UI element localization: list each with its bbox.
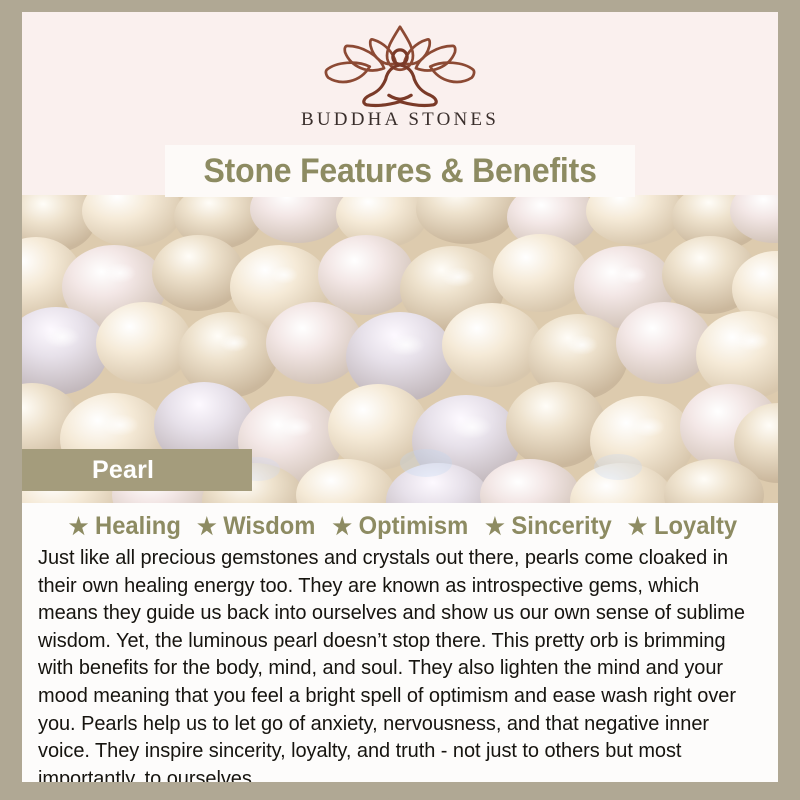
brand-name: BUDDHA STONES [22, 110, 778, 129]
page-title: Stone Features & Benefits [203, 152, 596, 191]
keyword-label: Sincerity [511, 512, 611, 541]
star-icon: ★ [627, 515, 647, 538]
keyword-item-optimism: ★ Optimism [324, 512, 469, 541]
description-paragraph: Just like all precious gemstones and cry… [38, 545, 751, 782]
keyword-item-loyalty: ★ Loyalty [620, 512, 739, 541]
stone-name-bar: Pearl [22, 449, 252, 491]
stone-name-label: Pearl [92, 456, 154, 485]
keyword-label: Optimism [358, 512, 468, 541]
star-icon: ★ [197, 515, 217, 538]
content-panel: ★ Healing ★ Wisdom ★ Optimism ★ Sincerit… [22, 503, 778, 782]
poster-root: BUDDHA STONES Stone Features & Benefits [0, 0, 800, 800]
poster-card: BUDDHA STONES Stone Features & Benefits [22, 12, 778, 782]
title-banner: Stone Features & Benefits [165, 145, 635, 197]
brand-header: BUDDHA STONES [22, 22, 778, 154]
keyword-list: ★ Healing ★ Wisdom ★ Optimism ★ Sincerit… [22, 503, 778, 543]
star-icon: ★ [485, 515, 505, 538]
keyword-label: Wisdom [223, 512, 315, 541]
keyword-item-sincerity: ★ Sincerity [477, 512, 613, 541]
keyword-label: Loyalty [654, 512, 737, 541]
star-icon: ★ [69, 515, 89, 538]
keyword-item-wisdom: ★ Wisdom [189, 512, 317, 541]
lotus-meditation-icon [320, 22, 480, 108]
star-icon: ★ [332, 515, 352, 538]
keyword-label: Healing [95, 512, 181, 541]
keyword-item-healing: ★ Healing [61, 512, 183, 541]
